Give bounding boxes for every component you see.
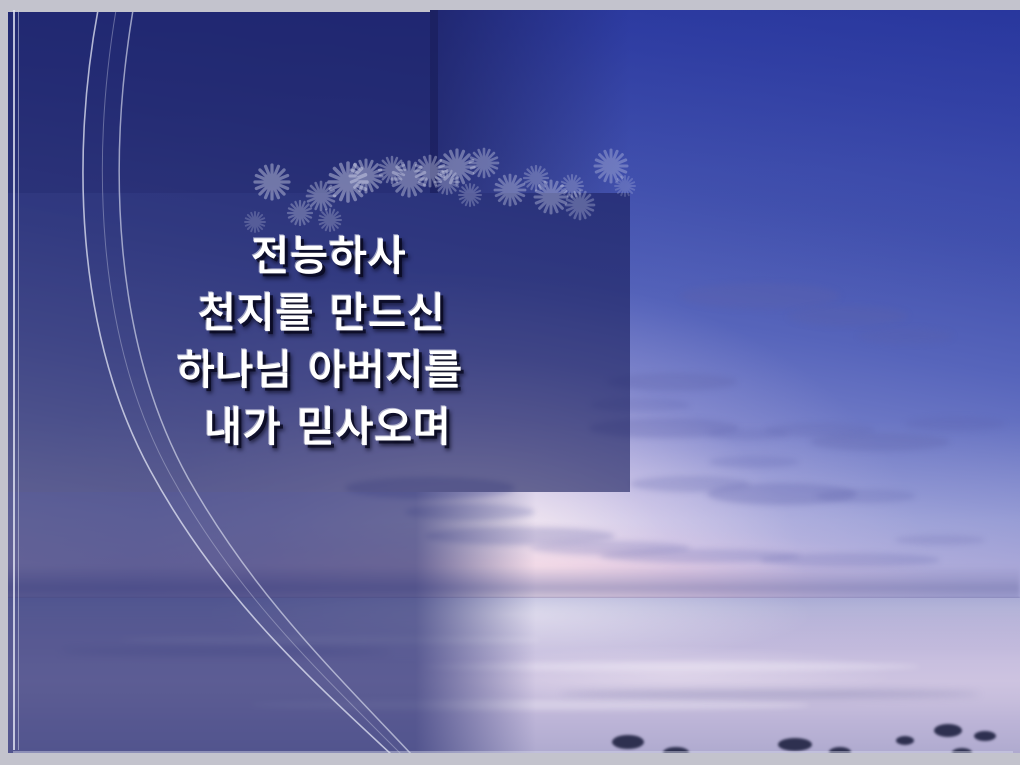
slide-canvas: 전능하사 천지를 만드신 하나님 아버지를 내가 믿사오며	[0, 0, 1020, 765]
frame-top-left-edge	[0, 0, 430, 12]
lyrics-block: 전능하사 천지를 만드신 하나님 아버지를 내가 믿사오며	[20, 228, 620, 456]
frame-hairline-inner	[18, 10, 19, 750]
sea-shadow-streak	[560, 690, 980, 698]
frame-hairline-outer	[13, 10, 15, 750]
cloud-wisp	[810, 433, 950, 451]
frame-hairline-bottom	[13, 751, 1013, 753]
cloud-wisp	[709, 456, 799, 468]
frame-bottom-edge	[0, 753, 1020, 765]
lyric-line-1: 전능하사	[20, 228, 620, 285]
lyric-line-4: 내가 믿사오며	[20, 399, 620, 456]
panel-upper-left	[8, 10, 438, 193]
lyric-line-3: 하나님 아버지를	[20, 342, 620, 399]
cloud-wisp	[760, 553, 940, 567]
shore-rock	[778, 738, 812, 751]
cloud-wisp	[788, 306, 908, 326]
shore-rock	[896, 736, 914, 745]
shore-rock	[974, 731, 996, 741]
frame-left-edge	[0, 0, 8, 765]
cloud-wisp	[680, 283, 840, 309]
cloud-wisp	[905, 417, 1005, 431]
lyric-line-2: 천지를 만드신	[20, 285, 620, 342]
cloud-wisp	[895, 535, 985, 545]
shore-rock	[934, 724, 962, 737]
cloud-wisp	[858, 328, 953, 344]
panel-lower-left-fade	[416, 492, 536, 753]
shore-rock	[612, 735, 644, 749]
cloud-wisp	[816, 489, 916, 503]
panel-lower-left	[8, 492, 416, 753]
panel-upper-left-fade	[430, 10, 630, 193]
